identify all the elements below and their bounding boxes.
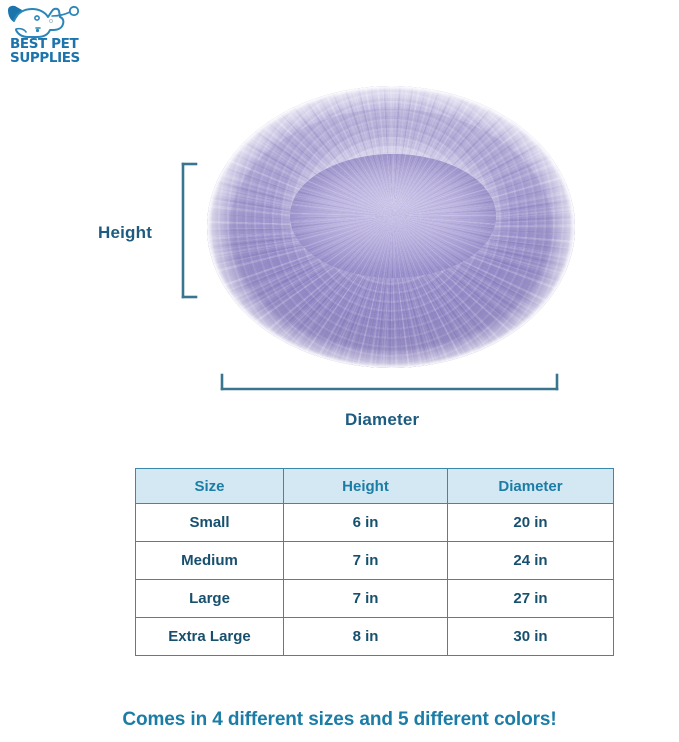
diameter-label: Diameter [345, 410, 419, 430]
column-header-height: Height [284, 469, 448, 504]
footer-tagline: Comes in 4 different sizes and 5 differe… [0, 709, 679, 731]
product-image [196, 74, 586, 379]
inner-fur-texture-layer-2 [290, 154, 496, 278]
cell-size: Medium [136, 542, 284, 580]
cell-height: 6 in [284, 504, 448, 542]
table-row: Large 7 in 27 in [136, 580, 614, 618]
cell-height: 7 in [284, 580, 448, 618]
cell-diameter: 27 in [448, 580, 614, 618]
size-chart-table: Size Height Diameter Small 6 in 20 in Me… [135, 468, 614, 656]
cell-height: 8 in [284, 618, 448, 656]
cell-size: Extra Large [136, 618, 284, 656]
brand-wordmark: BEST PET SUPPLIES [10, 38, 80, 65]
height-bracket-icon [183, 164, 196, 297]
cell-size: Large [136, 580, 284, 618]
inner-fur-texture-layer-1 [290, 154, 496, 278]
cell-diameter: 30 in [448, 618, 614, 656]
cell-size: Small [136, 504, 284, 542]
brand-wordmark-line2: SUPPLIES [10, 50, 80, 66]
column-header-diameter: Diameter [448, 469, 614, 504]
table-row: Extra Large 8 in 30 in [136, 618, 614, 656]
table-row: Medium 7 in 24 in [136, 542, 614, 580]
table-header-row: Size Height Diameter [136, 469, 614, 504]
height-label: Height [98, 223, 152, 243]
pet-bed-inner-cushion [290, 154, 496, 278]
brand-logo: BEST PET SUPPLIES [6, 4, 88, 68]
cell-diameter: 24 in [448, 542, 614, 580]
pet-bed-outer-ring [207, 86, 575, 368]
cell-diameter: 20 in [448, 504, 614, 542]
table-row: Small 6 in 20 in [136, 504, 614, 542]
column-header-size: Size [136, 469, 284, 504]
cell-height: 7 in [284, 542, 448, 580]
